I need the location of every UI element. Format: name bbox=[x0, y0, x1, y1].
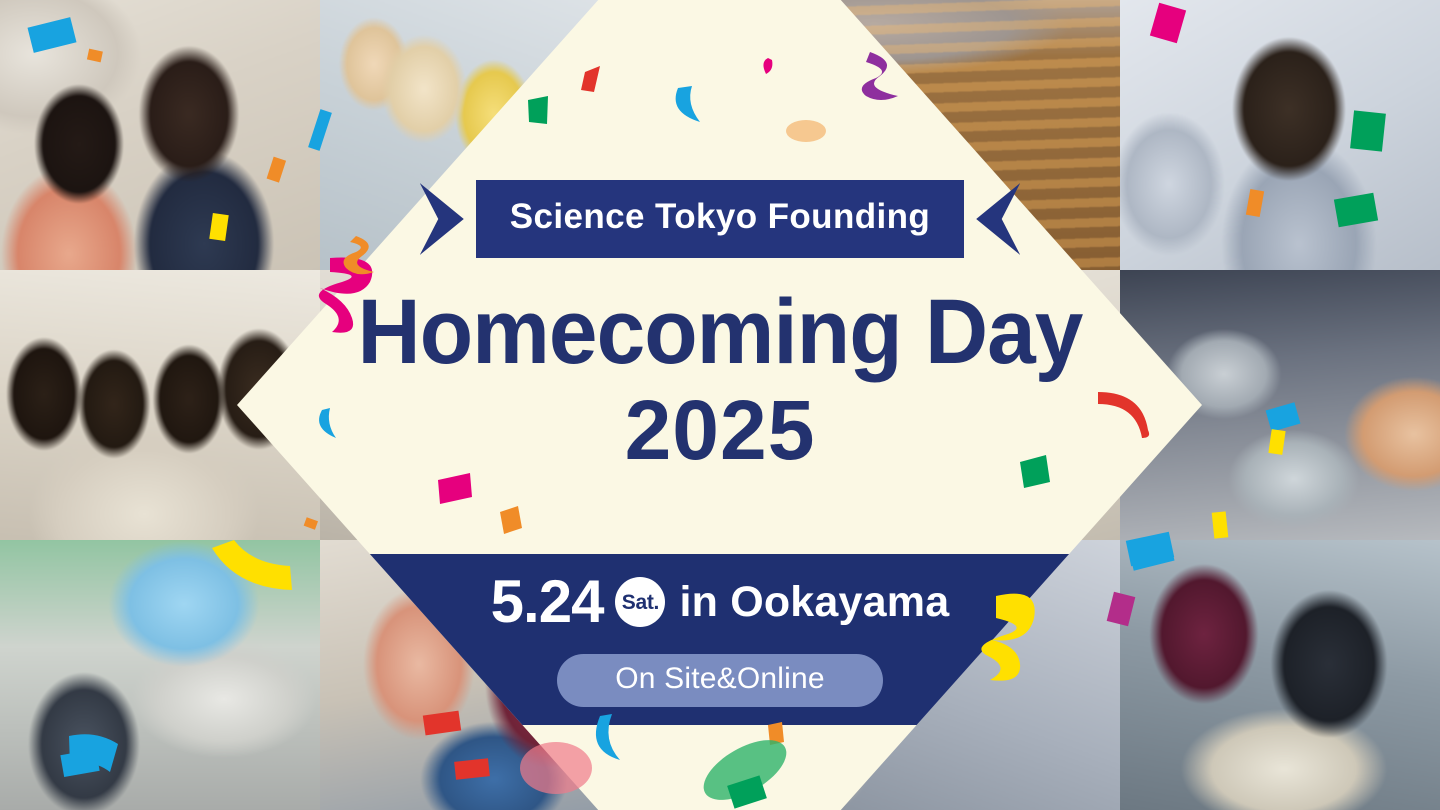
ribbon-label: Science Tokyo Founding bbox=[476, 180, 964, 258]
ribbon-tail-right-icon bbox=[976, 183, 1020, 255]
ribbon-tail-left-icon bbox=[420, 183, 464, 255]
ribbon-banner: Science Tokyo Founding bbox=[0, 180, 1440, 258]
event-location: in Ookayama bbox=[679, 581, 949, 624]
event-format-row: On Site&Online bbox=[0, 654, 1440, 707]
title-year: 2025 bbox=[0, 386, 1440, 474]
page-title: Homecoming Day bbox=[36, 286, 1404, 378]
poster-canvas: Science Tokyo Founding Homecoming Day 20… bbox=[0, 0, 1440, 810]
day-of-week-badge: Sat. bbox=[615, 577, 665, 627]
status-badge: On Site&Online bbox=[557, 654, 883, 707]
event-date-row: 5.24 Sat. in Ookayama bbox=[0, 572, 1440, 632]
event-date: 5.24 bbox=[491, 572, 604, 632]
poster-title-block: Homecoming Day 2025 bbox=[0, 286, 1440, 474]
